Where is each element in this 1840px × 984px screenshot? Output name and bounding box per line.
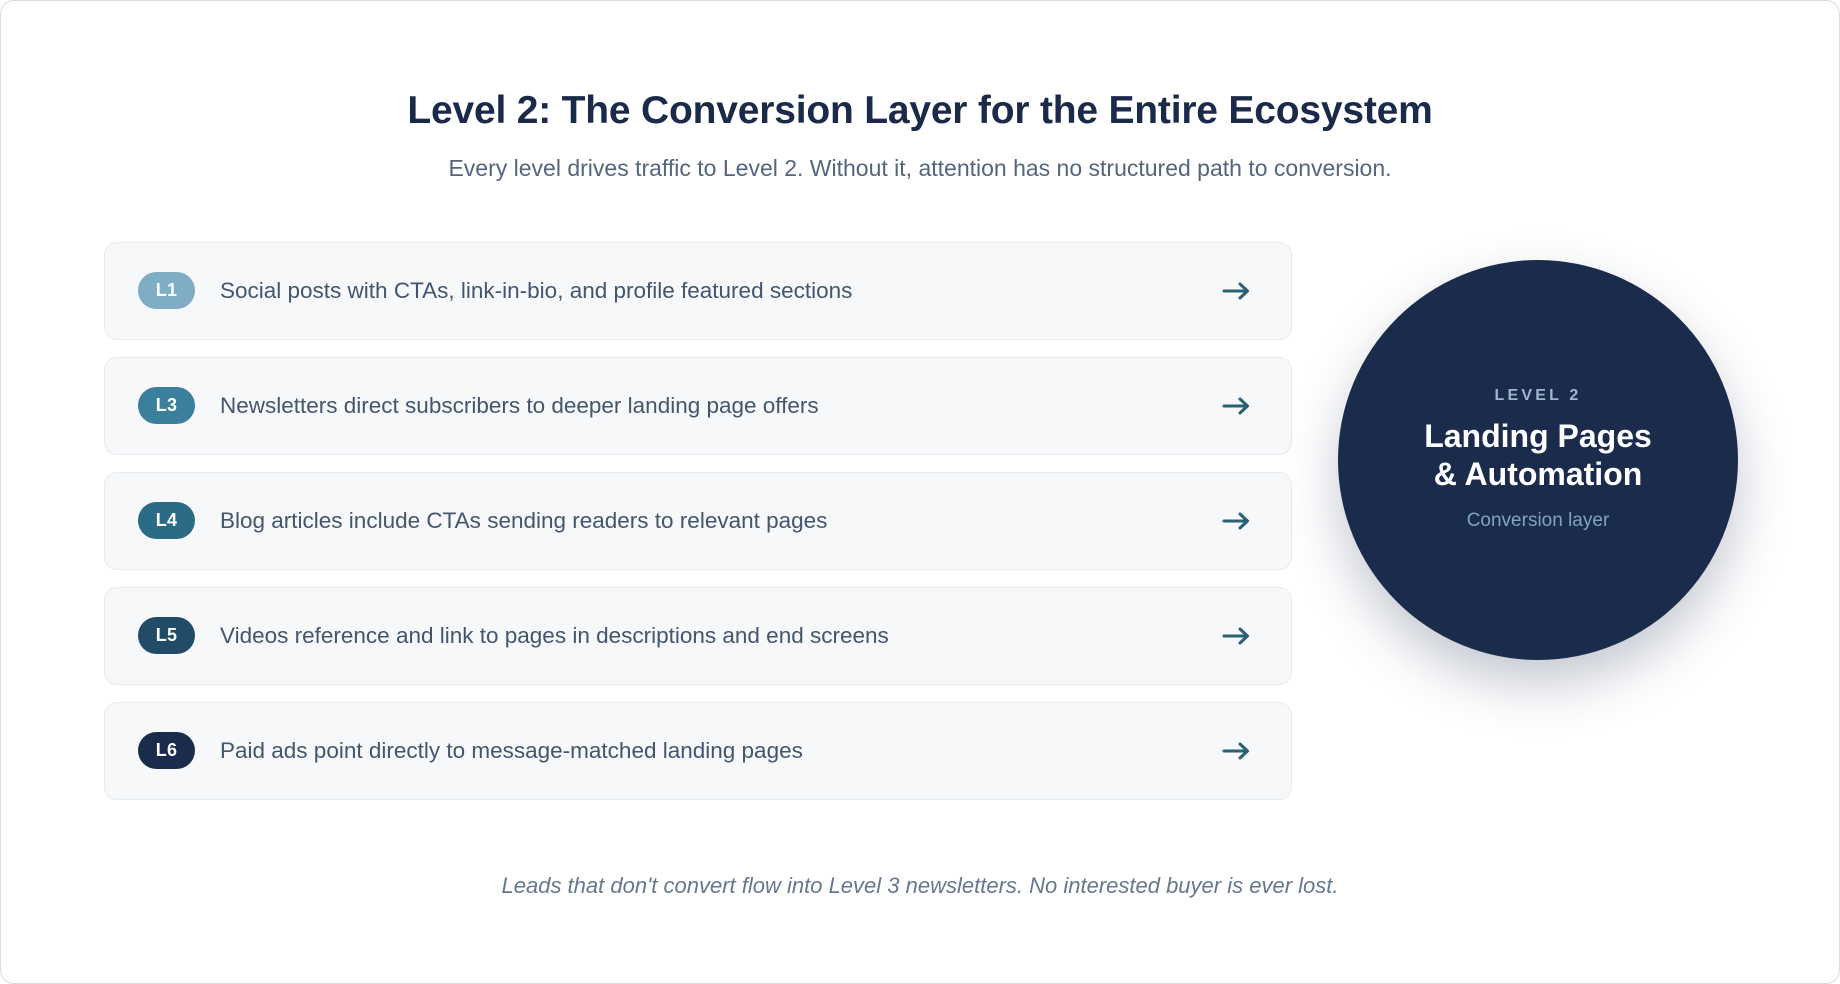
list-item[interactable]: L1 Social posts with CTAs, link-in-bio, … (104, 242, 1292, 340)
channel-list: L1 Social posts with CTAs, link-in-bio, … (104, 242, 1292, 800)
arrow-right-icon[interactable] (1217, 501, 1257, 541)
content-area: L1 Social posts with CTAs, link-in-bio, … (1, 230, 1839, 830)
hub-eyebrow: LEVEL 2 (1494, 387, 1581, 405)
list-item[interactable]: L3 Newsletters direct subscribers to dee… (104, 357, 1292, 455)
slide-container: Level 2: The Conversion Layer for the En… (0, 0, 1840, 984)
list-item-label: Social posts with CTAs, link-in-bio, and… (220, 277, 1217, 305)
header: Level 2: The Conversion Layer for the En… (1, 1, 1839, 184)
hub-title: Landing Pages & Automation (1424, 418, 1652, 494)
list-item[interactable]: L5 Videos reference and link to pages in… (104, 587, 1292, 685)
level-badge-l6: L6 (138, 732, 195, 769)
hub-subtitle: Conversion layer (1467, 510, 1610, 533)
list-item-label: Blog articles include CTAs sending reade… (220, 507, 1217, 535)
arrow-right-icon[interactable] (1217, 616, 1257, 656)
page-title: Level 2: The Conversion Layer for the En… (1, 89, 1839, 134)
hub-circle: LEVEL 2 Landing Pages & Automation Conve… (1338, 260, 1738, 660)
hub-title-line-1: Landing Pages (1424, 418, 1652, 456)
hub-title-line-2: & Automation (1424, 456, 1652, 494)
arrow-right-icon[interactable] (1217, 386, 1257, 426)
arrow-right-icon[interactable] (1217, 731, 1257, 771)
list-item[interactable]: L4 Blog articles include CTAs sending re… (104, 472, 1292, 570)
list-item[interactable]: L6 Paid ads point directly to message-ma… (104, 702, 1292, 800)
level-badge-l5: L5 (138, 617, 195, 654)
arrow-right-icon[interactable] (1217, 271, 1257, 311)
list-item-label: Newsletters direct subscribers to deeper… (220, 392, 1217, 420)
level-badge-l4: L4 (138, 502, 195, 539)
footnote: Leads that don't convert flow into Level… (1, 873, 1839, 899)
level-badge-l3: L3 (138, 387, 195, 424)
list-item-label: Paid ads point directly to message-match… (220, 737, 1217, 765)
list-item-label: Videos reference and link to pages in de… (220, 622, 1217, 650)
level-badge-l1: L1 (138, 272, 195, 309)
page-subtitle: Every level drives traffic to Level 2. W… (1, 154, 1839, 184)
